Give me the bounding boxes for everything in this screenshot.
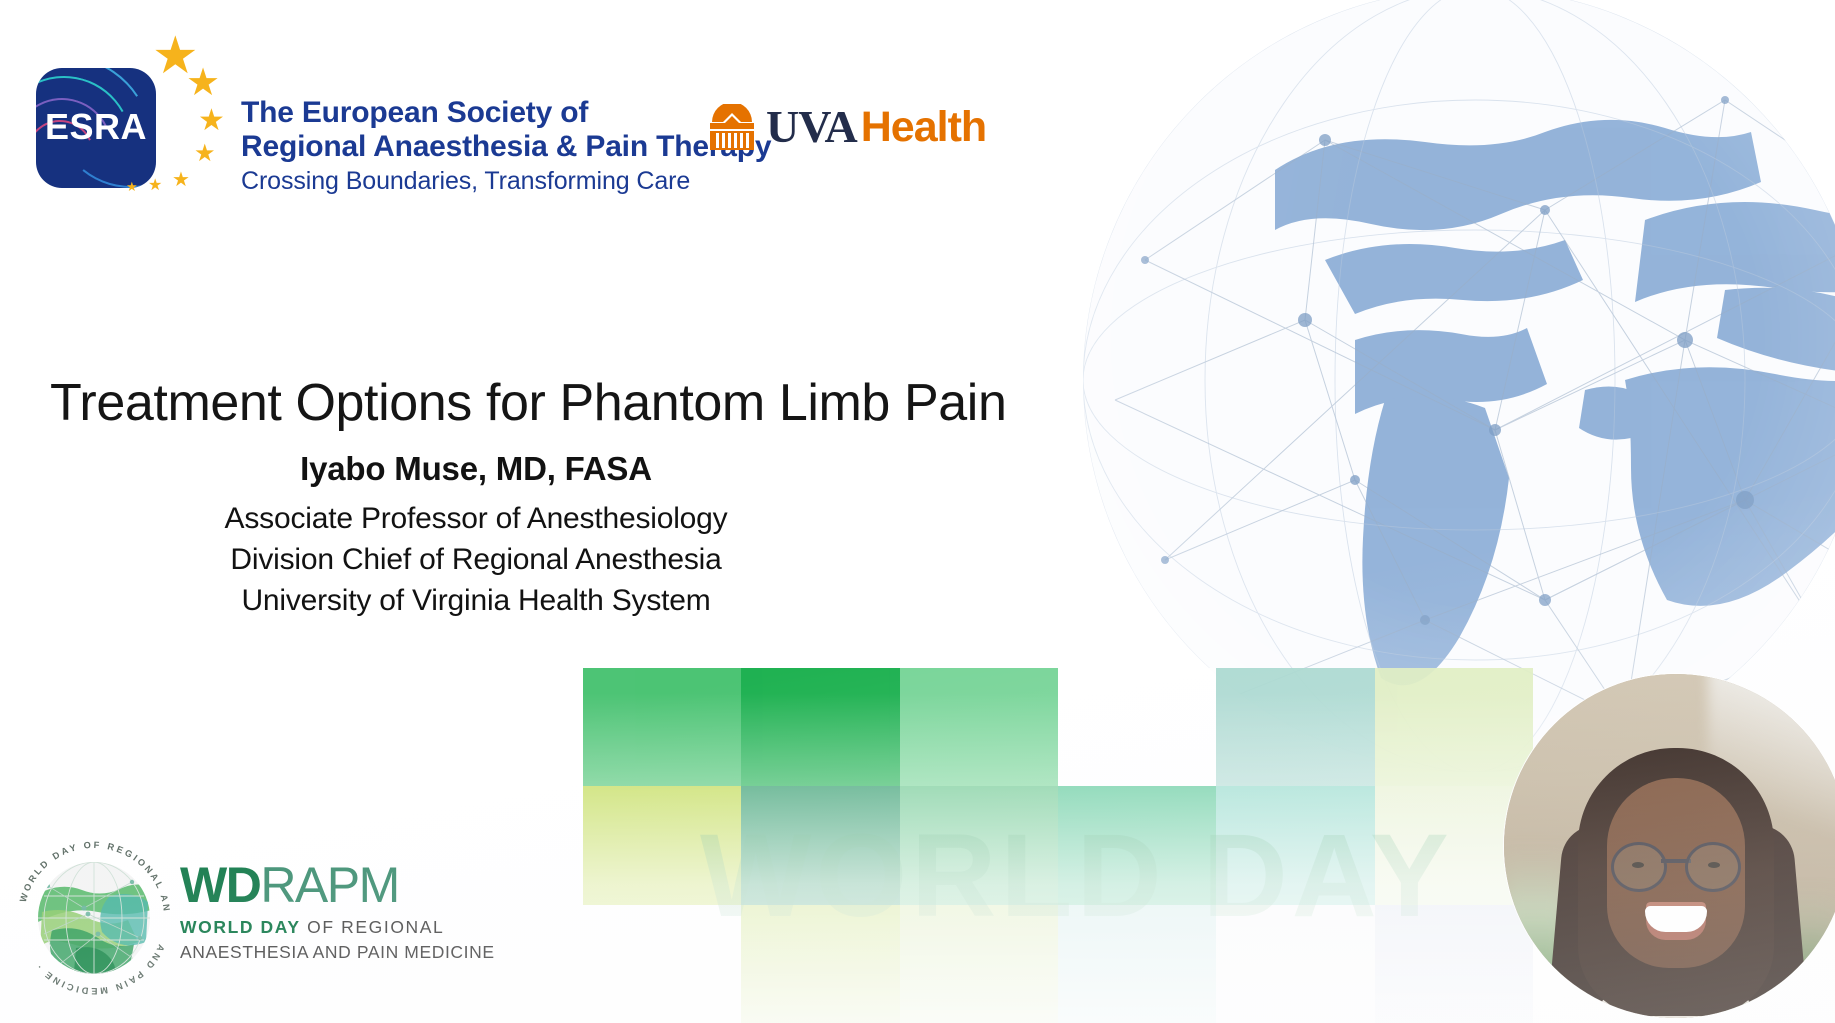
mosaic-tile [741, 905, 899, 1023]
mosaic-tile [900, 668, 1058, 786]
mosaic-tile [583, 905, 741, 1023]
esra-line-2: Regional Anaesthesia & Pain Therapy [241, 130, 771, 164]
mosaic-tile [583, 668, 741, 786]
esra-logo: ESRA ★ ★ ★ ★ ★ ★ ★ The European Society … [36, 22, 736, 187]
wdrapm-globe-icon: WORLD DAY OF REGIONAL ANAESTHESIA AND PA… [14, 838, 174, 998]
mosaic-tile [741, 668, 899, 786]
uva-health-logo: UVA Health [706, 100, 986, 154]
mosaic-graphic [583, 668, 1533, 1023]
mosaic-tile [900, 786, 1058, 904]
esra-line-1: The European Society of [241, 96, 771, 130]
wdrapm-sub-normal: OF REGIONAL [301, 917, 445, 937]
presenter-block: Iyabo Muse, MD, FASA Associate Professor… [0, 450, 952, 621]
wdrapm-subtitle-line-2: ANAESTHESIA AND PAIN MEDICINE [180, 942, 495, 963]
eu-stars-icon: ★ ★ ★ ★ ★ ★ ★ [128, 30, 238, 198]
mosaic-tile [583, 786, 741, 904]
mosaic-tile [1058, 668, 1216, 786]
rotunda-icon [706, 104, 758, 150]
presenter-role: Associate Professor of Anesthesiology [0, 498, 952, 539]
mosaic-tile [1216, 786, 1374, 904]
presentation-slide: ESRA ★ ★ ★ ★ ★ ★ ★ The European Society … [0, 0, 1835, 1023]
wdrapm-acronym-bold: WD [180, 857, 260, 913]
presenter-smile [1645, 906, 1707, 932]
mosaic-tile [1216, 905, 1374, 1023]
mosaic-tile [900, 905, 1058, 1023]
uva-wordmark: UVA [766, 104, 857, 150]
slide-title: Treatment Options for Phantom Limb Pain [50, 373, 1006, 433]
presenter-division: Division Chief of Regional Anesthesia [0, 539, 952, 580]
mosaic-tile [1058, 905, 1216, 1023]
wdrapm-acronym-light: RAPM [260, 857, 398, 913]
wdrapm-wordmark: WDRAPM WORLD DAY OF REGIONAL ANAESTHESIA… [180, 860, 495, 963]
presenter-video-thumbnail[interactable] [1504, 674, 1835, 1018]
wdrapm-subtitle-line-1: WORLD DAY OF REGIONAL [180, 917, 495, 938]
wdrapm-acronym: WDRAPM [180, 860, 495, 910]
mosaic-tile [1216, 668, 1374, 786]
mosaic-tile [741, 786, 899, 904]
esra-tagline: Crossing Boundaries, Transforming Care [241, 165, 771, 198]
presenter-institution: University of Virginia Health System [0, 580, 952, 621]
wdrapm-logo: WORLD DAY OF REGIONAL ANAESTHESIA AND PA… [8, 828, 448, 1008]
presenter-glasses [1611, 842, 1741, 888]
mosaic-tile [1058, 786, 1216, 904]
wdrapm-sub-bold: WORLD DAY [180, 917, 301, 937]
presenter-name: Iyabo Muse, MD, FASA [0, 450, 952, 488]
esra-logo-text: The European Society of Regional Anaesth… [241, 96, 771, 198]
health-wordmark: Health [861, 106, 986, 149]
